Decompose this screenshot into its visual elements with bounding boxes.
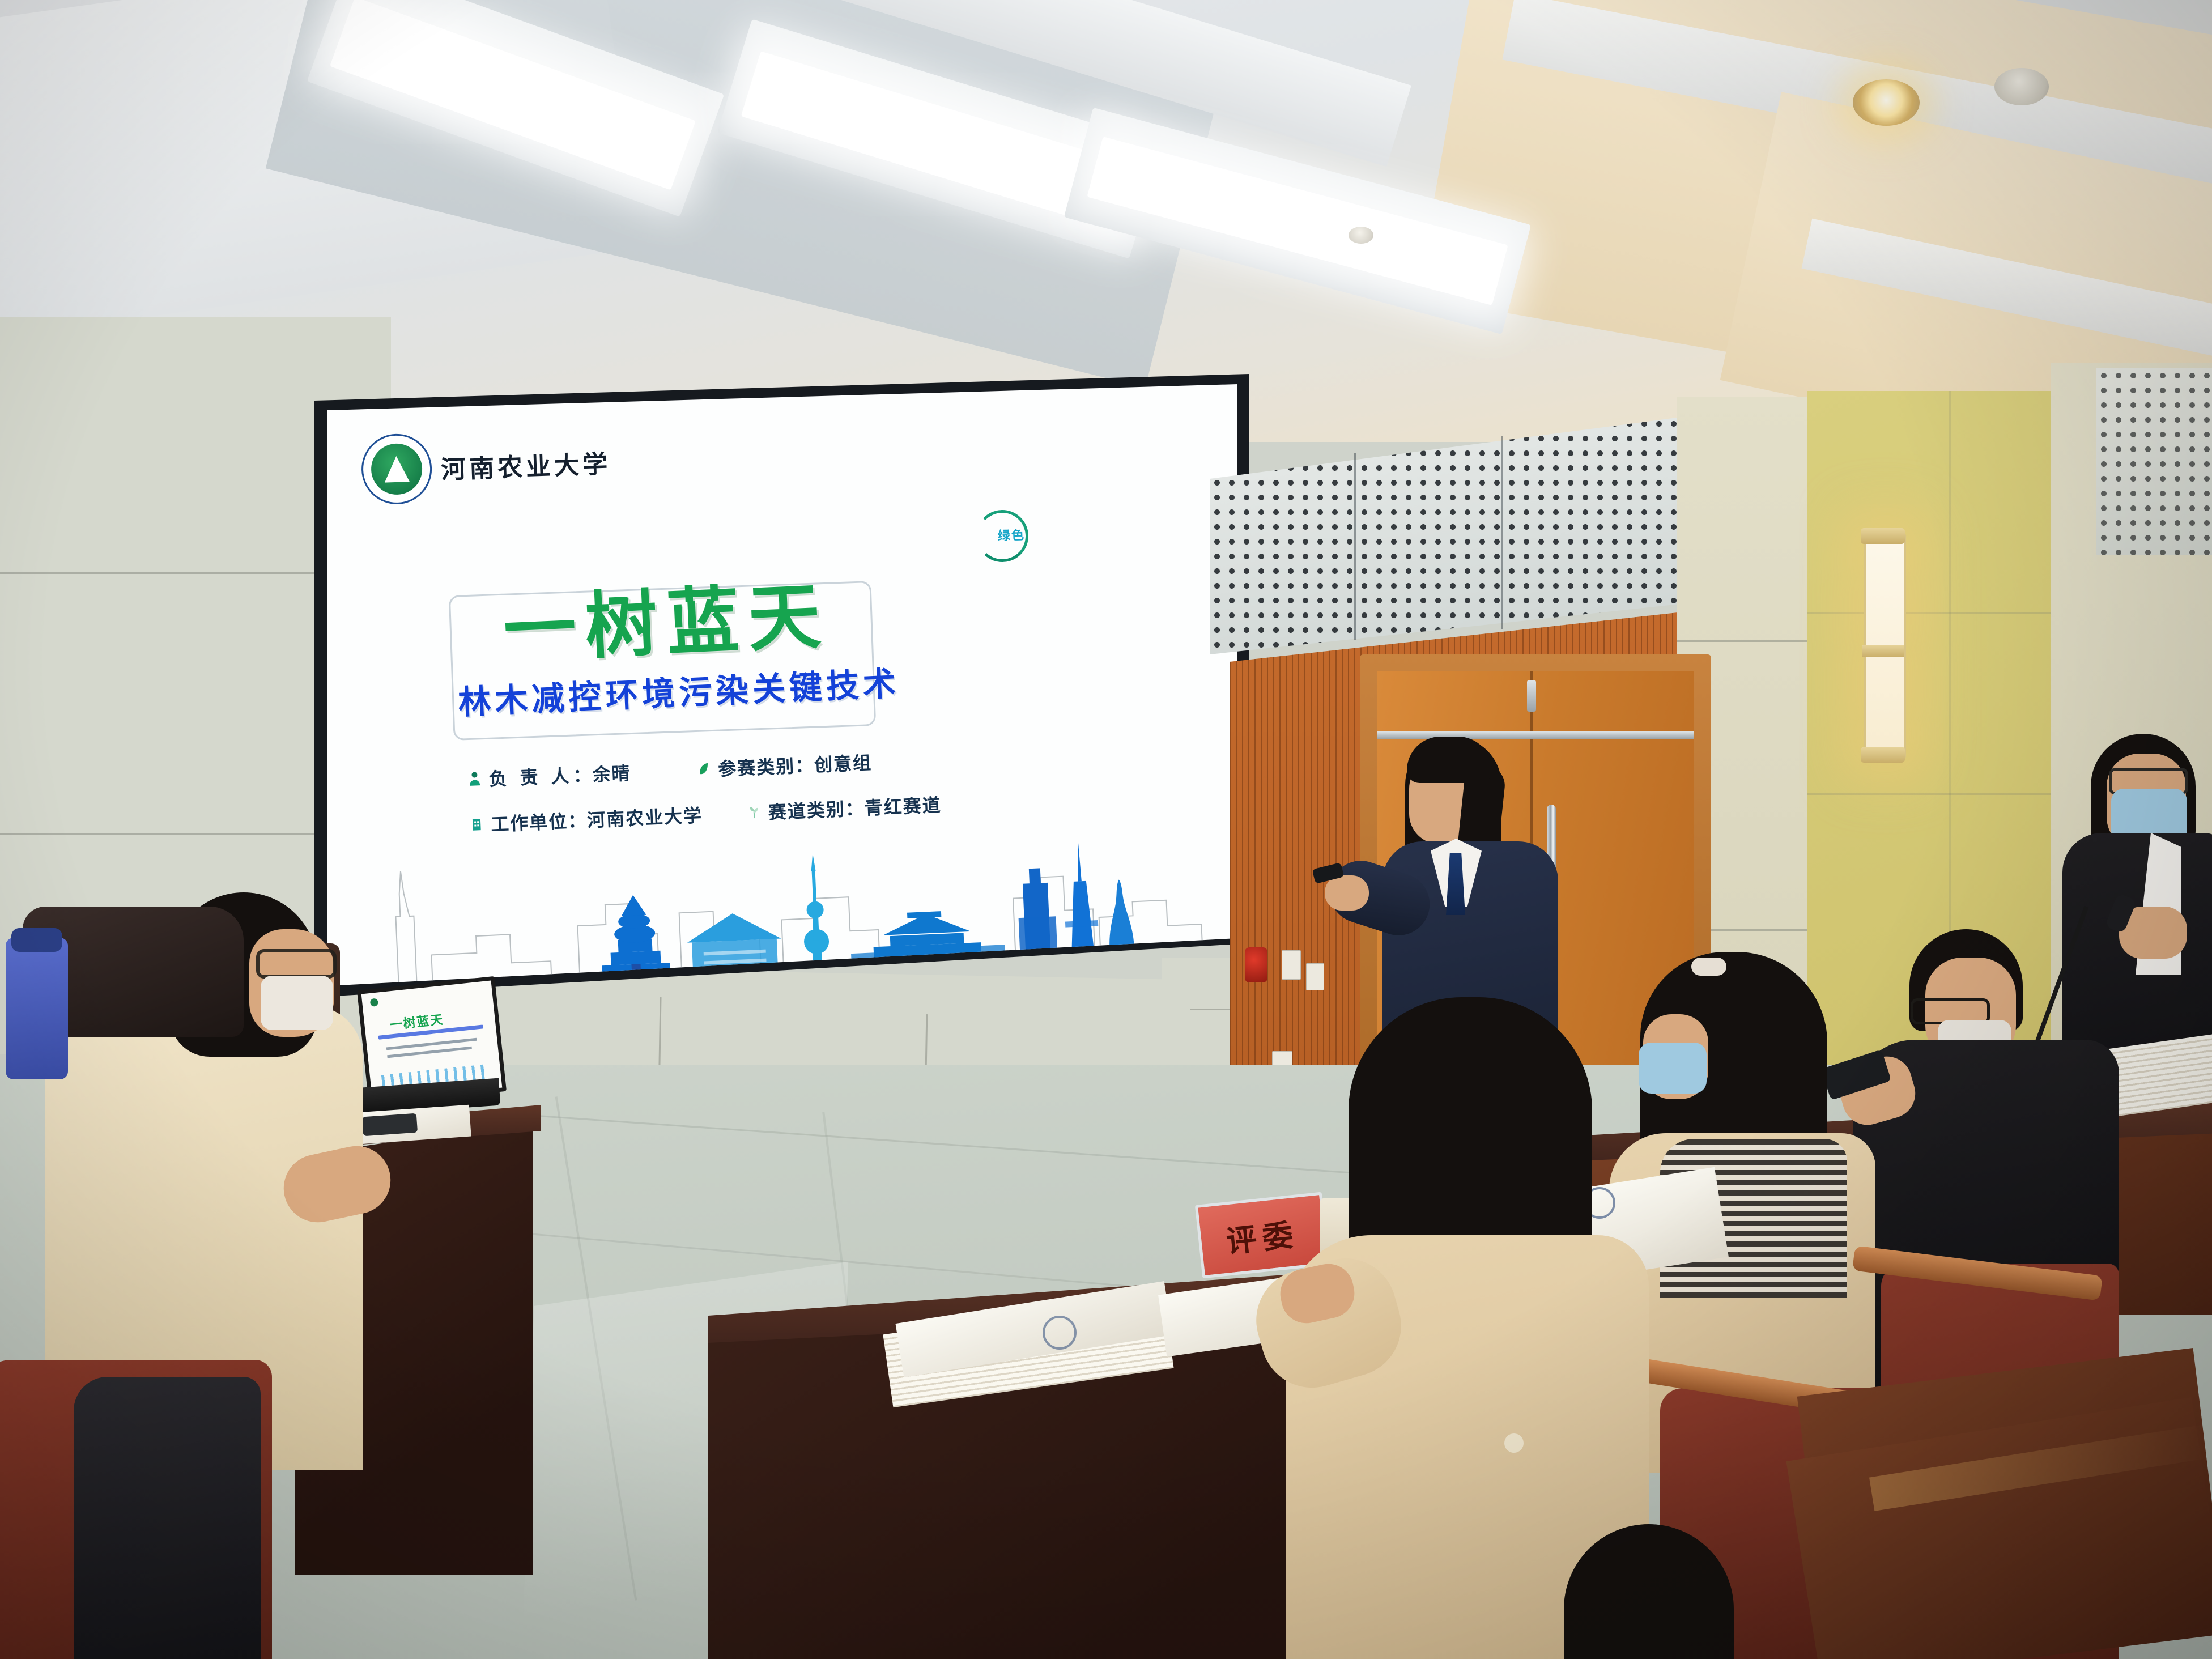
- presenter-fringe: [1407, 737, 1492, 783]
- conference-room-scene: 河南农业大学 绿色 一树蓝天 林木减控环境污染关键技术 负 责 人 ： 余晴: [0, 0, 2212, 1659]
- center-paper-seal-icon: [1043, 1316, 1077, 1350]
- meta-label-owner: 负 责 人: [488, 762, 574, 791]
- yellow-wall-seam-2: [1807, 793, 2057, 795]
- meta-item-category: 参赛类别 ： 创意组: [697, 748, 873, 782]
- eco-competition-logo: 绿色: [975, 509, 1029, 563]
- door-top-latch-icon: [1527, 680, 1536, 712]
- presentation-slide[interactable]: 河南农业大学 绿色 一树蓝天 林木减控环境污染关键技术 负 责 人 ： 余晴: [327, 384, 1237, 986]
- judge-striped-mask-icon: [1639, 1043, 1707, 1094]
- leaf-icon: [697, 761, 711, 776]
- meta-item-owner: 负 责 人 ： 余晴: [468, 759, 632, 792]
- meta-value-owner: 余晴: [592, 759, 631, 787]
- door-top-rail: [1377, 731, 1694, 739]
- sconce-mid-band: [1862, 645, 1904, 657]
- meta-value-track: 青红赛道: [864, 791, 942, 820]
- eco-logo-text: 绿色: [997, 525, 1025, 545]
- light-switch-2[interactable]: [1306, 963, 1324, 990]
- meta-value-category: 创意组: [814, 748, 873, 777]
- sconce-bottom-band: [1861, 747, 1905, 763]
- sconce-top-band: [1861, 528, 1905, 544]
- meta-label-track: 赛道类别: [768, 795, 846, 824]
- operator-glasses-icon: [256, 949, 337, 979]
- meta-sep-category: ：: [794, 751, 815, 777]
- city-skyline-graphic: [359, 813, 1214, 986]
- slide-title: 一树蓝天: [501, 558, 832, 677]
- judge-nameplate-text: 评委: [1224, 1209, 1301, 1261]
- meta-value-org: 河南农业大学: [586, 801, 703, 832]
- smoke-detector-icon: [1994, 68, 2049, 105]
- operator-mask-icon: [261, 976, 333, 1030]
- sprout-icon: [747, 805, 760, 820]
- ceiling-downlight: [1853, 79, 1920, 126]
- operator-leg: [74, 1377, 261, 1659]
- meta-item-org: 工作单位 ： 河南农业大学: [470, 801, 703, 837]
- meta-label-category: 参赛类别: [717, 752, 796, 781]
- meta-sep-track: ：: [845, 794, 865, 821]
- perf-panel-seam-2: [1501, 436, 1503, 629]
- meta-sep-owner: ：: [572, 761, 593, 788]
- meta-item-track: 赛道类别 ： 青红赛道: [747, 791, 942, 826]
- wall-seam-right-1: [1677, 640, 1810, 642]
- judge-striped-hairtie-icon: [1691, 958, 1726, 976]
- university-name: 河南农业大学: [440, 444, 611, 486]
- water-bottle[interactable]: [6, 938, 68, 1079]
- meta-label-org: 工作单位: [490, 807, 568, 836]
- fire-alarm-icon[interactable]: [1245, 947, 1267, 982]
- podium-phone[interactable]: [362, 1113, 418, 1137]
- center-judge-coat-button-icon: [1504, 1433, 1524, 1453]
- smoke-detector-icon-2: [1349, 227, 1373, 244]
- person-icon: [468, 771, 481, 786]
- perf-panel-seam-1: [1354, 453, 1356, 640]
- meta-sep-org: ：: [567, 806, 588, 833]
- building-icon: [470, 816, 483, 832]
- far-right-perforated-panel: [2096, 368, 2212, 555]
- laptop-slide-logo: [370, 998, 378, 1007]
- light-switch-1[interactable]: [1282, 950, 1301, 980]
- bottle-cap-icon: [11, 928, 62, 952]
- university-logo: [360, 433, 429, 502]
- presenter-hand: [1325, 875, 1369, 911]
- yellow-wall-seam-1: [1807, 612, 2057, 614]
- acoustic-perforated-panel: [1210, 416, 1686, 654]
